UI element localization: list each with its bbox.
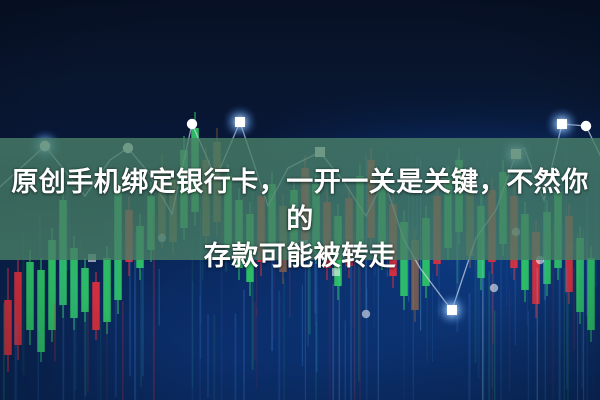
page-title: 原创手机绑定银行卡，一开一关是关键，不然你的 存款可能被转走 xyxy=(0,164,600,275)
banner-image: 原创手机绑定银行卡，一开一关是关键，不然你的 存款可能被转走 xyxy=(0,0,600,400)
